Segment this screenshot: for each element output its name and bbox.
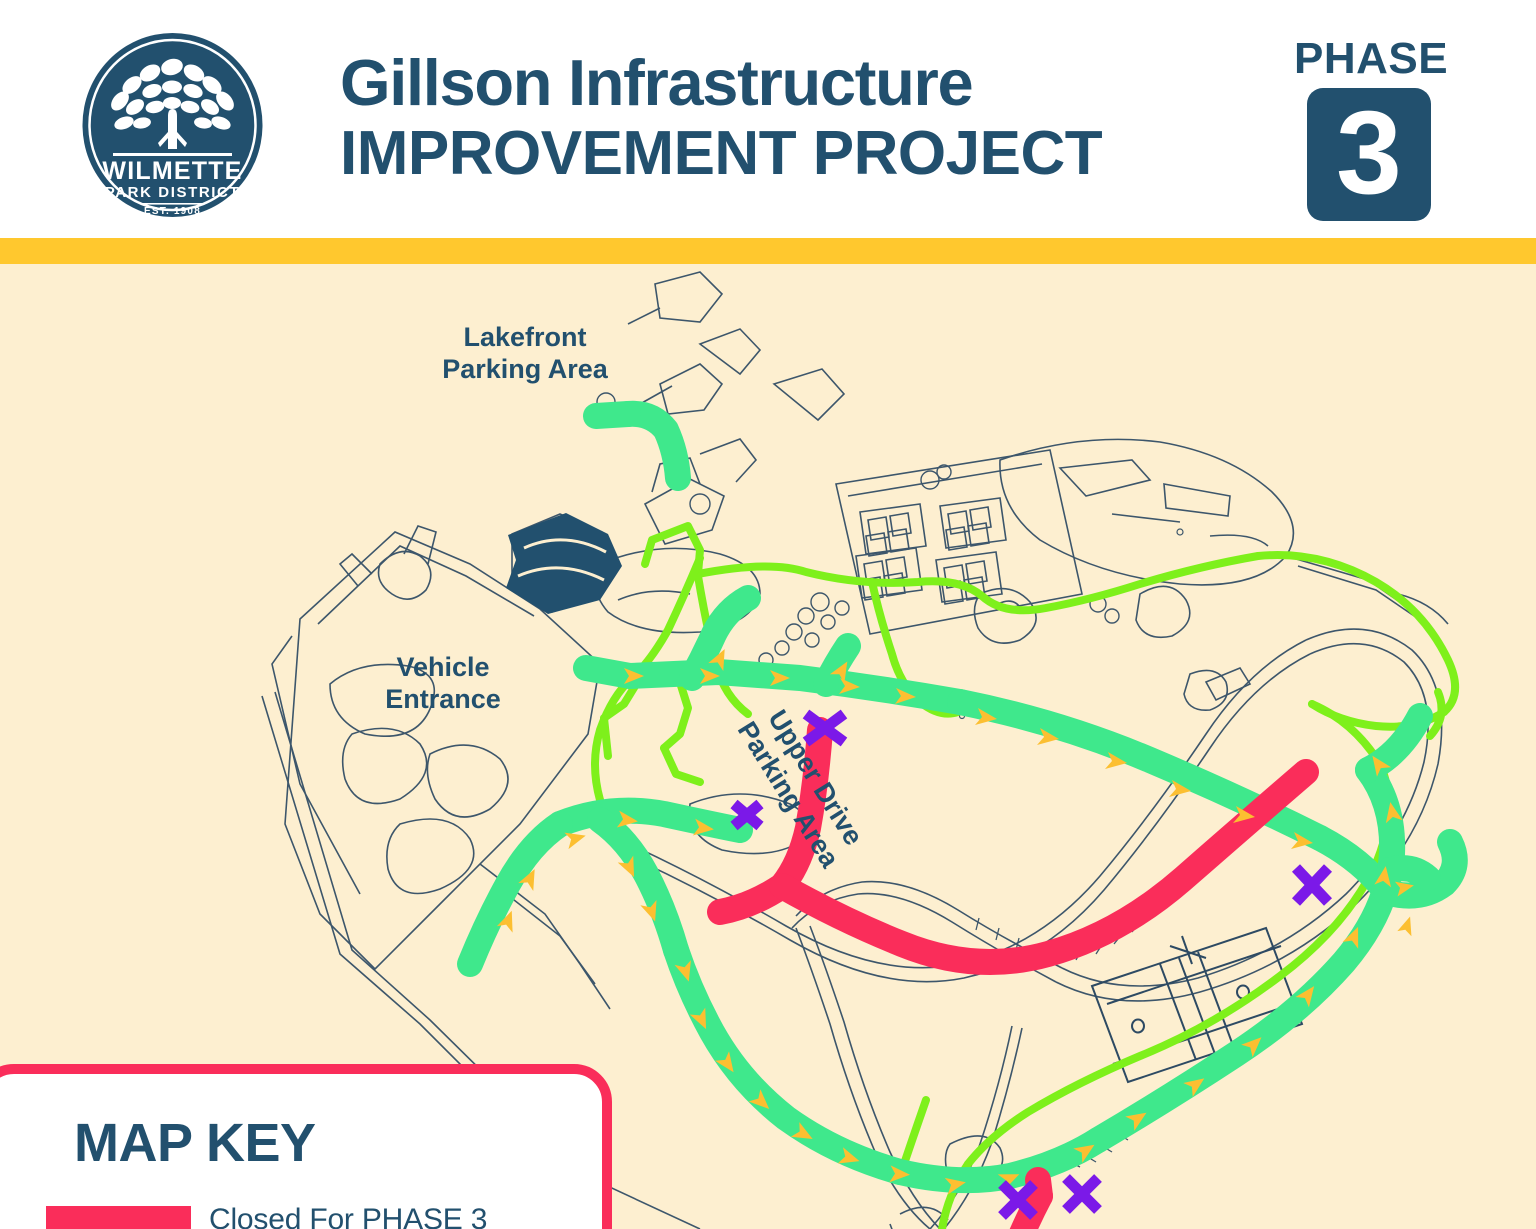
page-title-primary: Gillson Infrastructure bbox=[340, 47, 1260, 119]
map-label-lakefront-parking: Lakefront Parking Area bbox=[400, 321, 650, 385]
logo-line1: WILMETTE bbox=[102, 157, 242, 185]
park-map: Lakefront Parking Area Vehicle Entrance … bbox=[0, 264, 1536, 1229]
logo-line3: EST. 1908 bbox=[144, 206, 201, 217]
phase-badge-label: PHASE bbox=[1294, 35, 1444, 83]
phase-badge-square: 3 bbox=[1307, 88, 1431, 221]
barrier-5 bbox=[1066, 1178, 1098, 1210]
map-key-list: Closed For PHASE 3 Open for PHASE 3 Visi… bbox=[46, 1192, 586, 1229]
map-key-panel: MAP KEY Closed For PHASE 3 Open for PHAS… bbox=[0, 1064, 612, 1229]
page-title-secondary: IMPROVEMENT PROJECT bbox=[340, 119, 1260, 189]
header-gold-divider bbox=[0, 238, 1536, 264]
map-label-entrance-line1: Vehicle bbox=[396, 652, 489, 682]
map-label-entrance-line2: Entrance bbox=[385, 684, 501, 714]
wilmette-park-district-logo: WILMETTE PARK DISTRICT EST. 1908 bbox=[80, 31, 265, 219]
closed-road-swatch bbox=[46, 1206, 191, 1229]
poster-header: WILMETTE PARK DISTRICT EST. 1908 Gillson… bbox=[0, 0, 1536, 238]
poster-root: WILMETTE PARK DISTRICT EST. 1908 Gillson… bbox=[0, 0, 1536, 1229]
phase-badge: PHASE 3 bbox=[1294, 35, 1444, 225]
map-key-title: MAP KEY bbox=[74, 1112, 316, 1174]
map-key-item-closed: Closed For PHASE 3 bbox=[46, 1192, 586, 1229]
phase-badge-number: 3 bbox=[1336, 98, 1402, 208]
logo-line2: PARK DISTRICT bbox=[105, 184, 241, 201]
map-key-label-closed: Closed For PHASE 3 bbox=[191, 1203, 487, 1229]
map-label-lakefront-line2: Parking Area bbox=[442, 354, 608, 384]
map-label-lakefront-line1: Lakefront bbox=[463, 322, 586, 352]
poster-title-block: Gillson Infrastructure IMPROVEMENT PROJE… bbox=[340, 47, 1260, 197]
open-roads bbox=[470, 414, 1455, 1180]
vehicle-access-arrows bbox=[497, 645, 1418, 1194]
barrier-3 bbox=[1296, 868, 1328, 902]
map-label-vehicle-entrance: Vehicle Entrance bbox=[333, 651, 553, 715]
